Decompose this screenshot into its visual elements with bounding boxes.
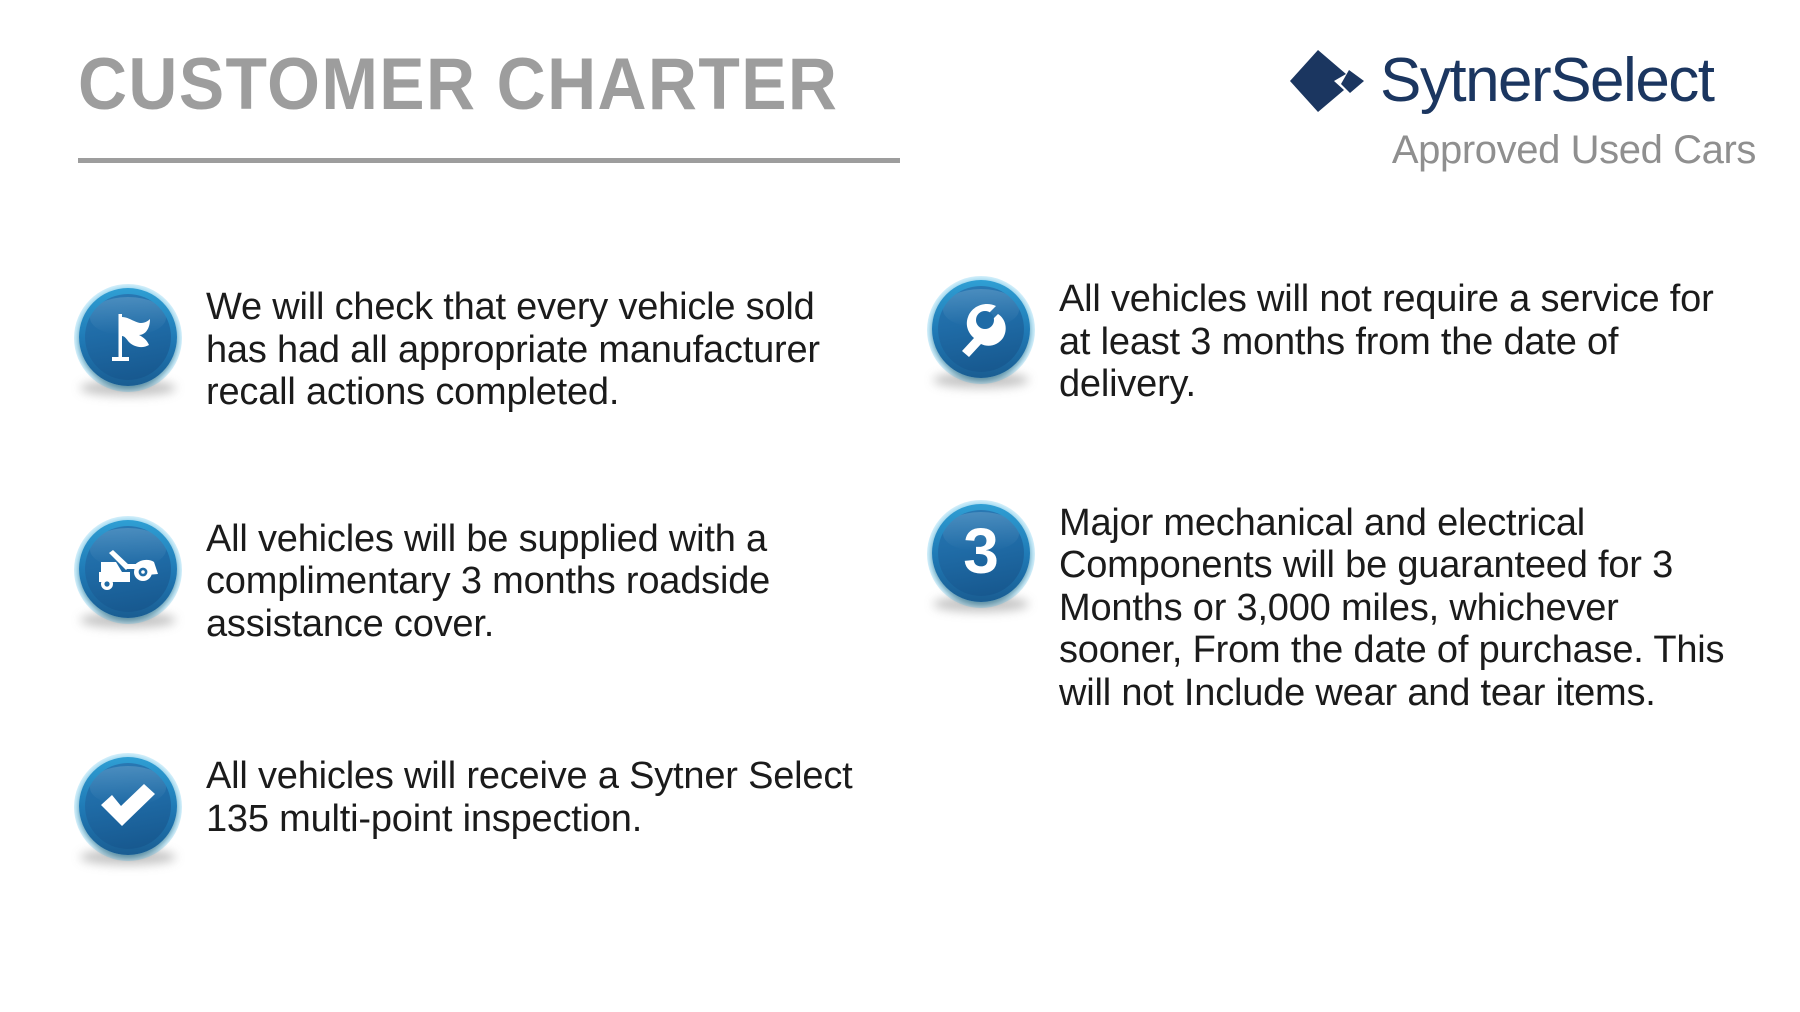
title-divider <box>78 158 900 163</box>
charter-item-text: All vehicles will receive a Sytner Selec… <box>206 751 872 840</box>
charter-item: 3 Major mechanical and electrical Compon… <box>925 498 1735 715</box>
charter-item-text: Major mechanical and electrical Componen… <box>1059 498 1735 715</box>
charter-item-text: All vehicles will not require a service … <box>1059 274 1735 406</box>
logo-wordmark: SytnerSelect <box>1380 50 1714 112</box>
charter-item: All vehicles will not require a service … <box>925 274 1735 406</box>
charter-item: All vehicles will be supplied with a com… <box>72 514 872 646</box>
charter-item-text: We will check that every vehicle sold ha… <box>206 282 872 414</box>
tow-truck-icon <box>72 514 184 626</box>
logo-brand-primary: Sytner <box>1380 46 1550 115</box>
number-three-glyph: 3 <box>938 510 1024 596</box>
customer-charter-slide: CUSTOMER CHARTER SytnerSelect Approved U… <box>0 0 1800 1012</box>
wrench-icon <box>925 274 1037 386</box>
wrench-glyph <box>938 286 1024 372</box>
sytner-diamond-icon <box>1288 48 1370 114</box>
flag-icon <box>72 282 184 394</box>
check-mark-icon <box>72 751 184 863</box>
charter-column-right: All vehicles will not require a service … <box>925 282 1735 714</box>
page-title: CUSTOMER CHARTER <box>78 48 838 121</box>
sytner-select-logo: SytnerSelect Approved Used Cars <box>1288 38 1758 178</box>
check-mark-glyph <box>85 763 171 849</box>
logo-wordmark-row: SytnerSelect <box>1288 38 1714 124</box>
charter-item-text: All vehicles will be supplied with a com… <box>206 514 872 646</box>
logo-tagline: Approved Used Cars <box>1392 130 1756 170</box>
number-three-label: 3 <box>963 519 999 583</box>
number-three-icon: 3 <box>925 498 1037 610</box>
flag-glyph <box>85 294 171 380</box>
tow-truck-glyph <box>85 526 171 612</box>
charter-column-left: We will check that every vehicle sold ha… <box>72 282 872 863</box>
logo-brand-secondary: Select <box>1550 46 1713 115</box>
charter-item: We will check that every vehicle sold ha… <box>72 282 872 414</box>
charter-item: All vehicles will receive a Sytner Selec… <box>72 751 872 863</box>
header: CUSTOMER CHARTER SytnerSelect Approved U… <box>0 0 1800 200</box>
